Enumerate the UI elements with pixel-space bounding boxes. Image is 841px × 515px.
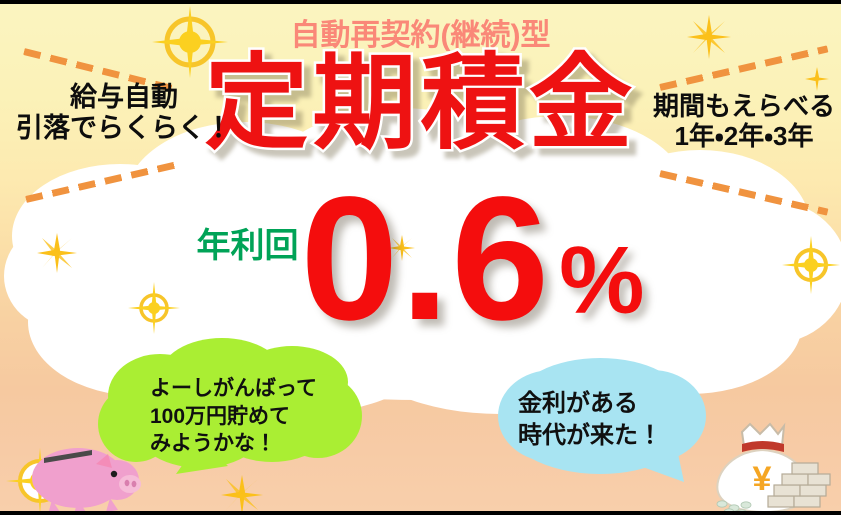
- savings-goal-line-2: 100万円貯めて: [150, 403, 317, 431]
- callout-right-line-2: 1年・2年・3年: [653, 122, 835, 152]
- interest-era-bubble-text: 金利がある 時代が来た！: [518, 388, 662, 451]
- callout-salary-deduction: 給与自動 引落でらくらく！: [16, 82, 232, 144]
- rate-unit: %: [559, 233, 644, 329]
- interest-era-line-2: 時代が来た！: [518, 420, 662, 452]
- rate-value: 0.6: [300, 179, 551, 341]
- savings-product-banner: 自動再契約(継続)型 定期積金 給与自動 引落でらくらく！ 期間もえらべる 1年…: [0, 0, 841, 515]
- piggy-bank-illustration: [22, 434, 142, 515]
- money-bag-illustration: ¥: [712, 422, 832, 515]
- sparkle-burst-icon-3: [220, 474, 264, 515]
- callout-left-line-1: 給与自動: [16, 82, 232, 113]
- interest-rate-block: 年利回 0.6 %: [0, 179, 841, 341]
- callout-left-line-2: 引落でらくらく！: [16, 113, 232, 144]
- savings-goal-line-3: みようかな！: [150, 430, 317, 458]
- interest-era-line-1: 金利がある: [518, 388, 662, 420]
- svg-text:¥: ¥: [753, 460, 772, 498]
- callout-right-line-1: 期間もえらべる: [653, 92, 835, 122]
- savings-goal-bubble-text: よーしがんばって 100万円貯めて みようかな！: [150, 375, 317, 458]
- rate-label: 年利回: [196, 218, 298, 267]
- callout-term-options: 期間もえらべる 1年・2年・3年: [653, 92, 835, 152]
- savings-goal-line-1: よーしがんばって: [150, 375, 317, 403]
